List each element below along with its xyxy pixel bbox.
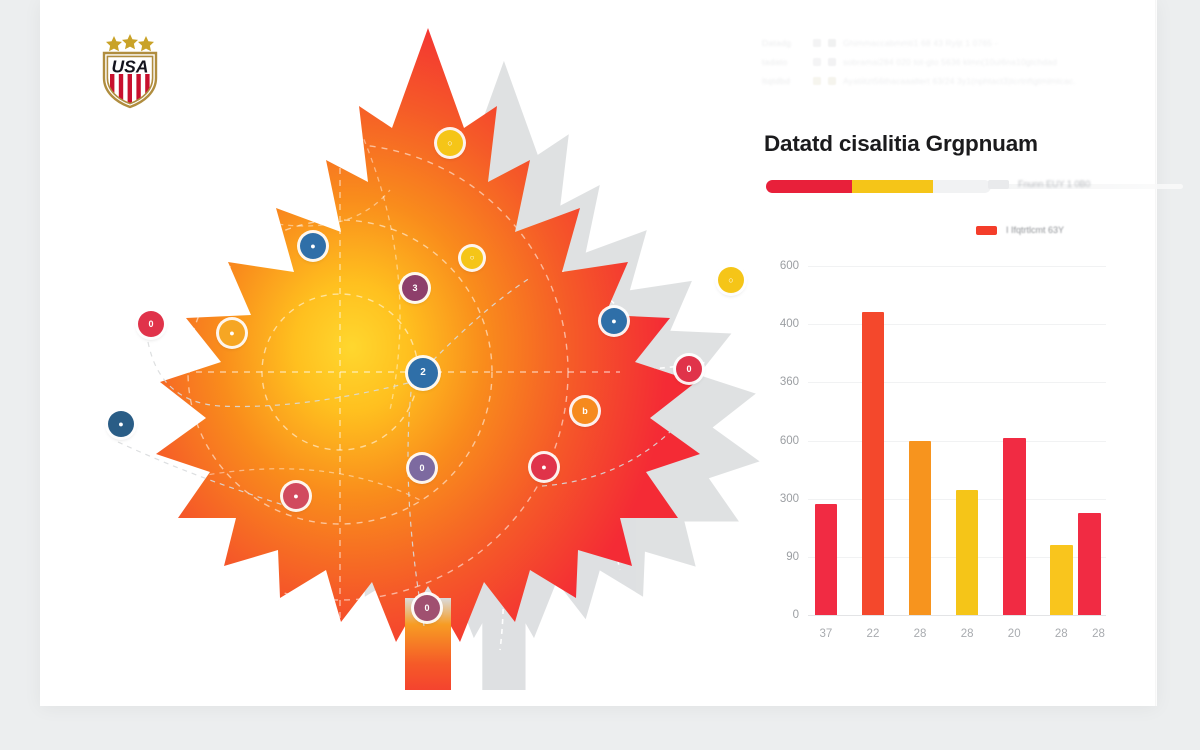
meta-row-text: Ayatiitzt56thacaaaltert 63/24 3y1(nphtac… <box>843 76 1076 86</box>
chart-bar[interactable] <box>815 504 838 615</box>
meta-row-swatch-b <box>828 58 836 66</box>
maple-leaf-map: ○ ● 3 ○ ○ 0 ● ● 2 0 ● b 0 ● ● 0 <box>60 10 800 690</box>
y-axis-tick: 0 <box>793 609 799 621</box>
map-pin-13[interactable]: 0 <box>409 455 435 481</box>
legend-label: Fnunn EUY 1 0B0 <box>1018 179 1090 189</box>
meta-row-swatch-b <box>828 39 836 47</box>
dashboard-root: USA <box>0 0 1200 750</box>
meta-row-text: Ghimmaccabmmti1 68 43 Ryljt 1 0765 - <box>843 38 998 48</box>
map-pin-8[interactable]: ● <box>601 308 627 334</box>
bar-chart: 600 400 360 600 300 90 0 37 22 28 <box>760 258 1112 658</box>
x-axis-tick: 37 <box>819 628 832 640</box>
chart-bar[interactable] <box>1050 545 1073 615</box>
meta-row: tadato sobramai284 020 tot-gto 5636 klmn… <box>762 57 1112 67</box>
legend-item-1[interactable]: I Ifqtrtlcmt 63Y <box>976 225 1064 235</box>
x-axis-tick: 28 <box>961 628 974 640</box>
map-pin-5[interactable]: ○ <box>718 267 744 293</box>
x-axis-tick: 28 <box>1055 628 1068 640</box>
meta-row: Datadg Ghimmaccabmmti1 68 43 Ryljt 1 076… <box>762 38 1112 48</box>
chart-bar[interactable] <box>956 490 979 615</box>
map-pin-4[interactable]: ○ <box>461 247 483 269</box>
map-pin-16[interactable]: 0 <box>414 595 440 621</box>
x-axis-tick: 20 <box>1008 628 1021 640</box>
meta-row-swatch-b <box>828 77 836 85</box>
progress-segment-red <box>766 180 852 193</box>
meta-row-swatch-a <box>813 58 821 66</box>
map-pin-14[interactable]: ● <box>531 454 557 480</box>
chart-bar[interactable] <box>862 312 885 615</box>
meta-row-text: sobramai284 020 tot-gto 5636 klmn(10ul6n… <box>843 57 1057 67</box>
x-axis-tick: 22 <box>867 628 880 640</box>
y-axis-tick: 400 <box>780 318 799 330</box>
y-axis-tick: 600 <box>780 435 799 447</box>
x-axis-tick: 28 <box>914 628 927 640</box>
map-pin-10[interactable]: 0 <box>676 356 702 382</box>
x-axis-tick: 28 <box>1092 628 1105 640</box>
map-pin-3[interactable]: 3 <box>402 275 428 301</box>
meta-row-label: Datadg <box>762 38 806 48</box>
meta-row-swatch-a <box>813 77 821 85</box>
chart-bar[interactable] <box>909 441 932 616</box>
legend-swatch <box>976 226 997 235</box>
card-right-edge <box>1155 0 1157 706</box>
meta-row-list: Datadg Ghimmaccabmmti1 68 43 Ryljt 1 076… <box>762 38 1112 95</box>
y-axis-tick: 360 <box>780 376 799 388</box>
y-axis-tick: 300 <box>780 493 799 505</box>
chart-plot-area: 600 400 360 600 300 90 0 37 22 28 <box>808 266 1106 616</box>
map-pin-7[interactable]: ● <box>219 320 245 346</box>
legend-label: I Ifqtrtlcmt 63Y <box>1006 225 1064 235</box>
chart-bar[interactable] <box>1003 438 1026 615</box>
y-axis-tick: 90 <box>786 551 799 563</box>
map-pin-15[interactable]: ● <box>283 483 309 509</box>
panel-title: Datatd cisalitia Grgpnuam <box>764 131 1038 157</box>
meta-row-label: tadato <box>762 57 806 67</box>
analytics-panel: Datadg Ghimmaccabmmti1 68 43 Ryljt 1 076… <box>748 20 1118 680</box>
map-pin-11[interactable]: ● <box>108 411 134 437</box>
meta-row-label: Itqtdbd <box>762 76 806 86</box>
progress-segment-yellow <box>852 180 933 193</box>
chart-bar[interactable] <box>1078 513 1101 615</box>
chart-bars: 37 22 28 28 20 28 28 <box>808 266 1106 615</box>
legend-swatch <box>988 180 1009 189</box>
y-axis-tick: 600 <box>780 260 799 272</box>
map-pin-2[interactable]: ● <box>300 233 326 259</box>
progress-bar[interactable] <box>766 180 991 193</box>
meta-row: Itqtdbd Ayatiitzt56thacaaaltert 63/24 3y… <box>762 76 1112 86</box>
map-pin-9[interactable]: 2 <box>408 358 438 388</box>
legend-item-0[interactable]: Fnunn EUY 1 0B0 <box>988 179 1090 189</box>
map-pin-6[interactable]: 0 <box>138 311 164 337</box>
map-pin-1[interactable]: ○ <box>437 130 463 156</box>
map-pin-12[interactable]: b <box>572 398 598 424</box>
meta-row-swatch-a <box>813 39 821 47</box>
